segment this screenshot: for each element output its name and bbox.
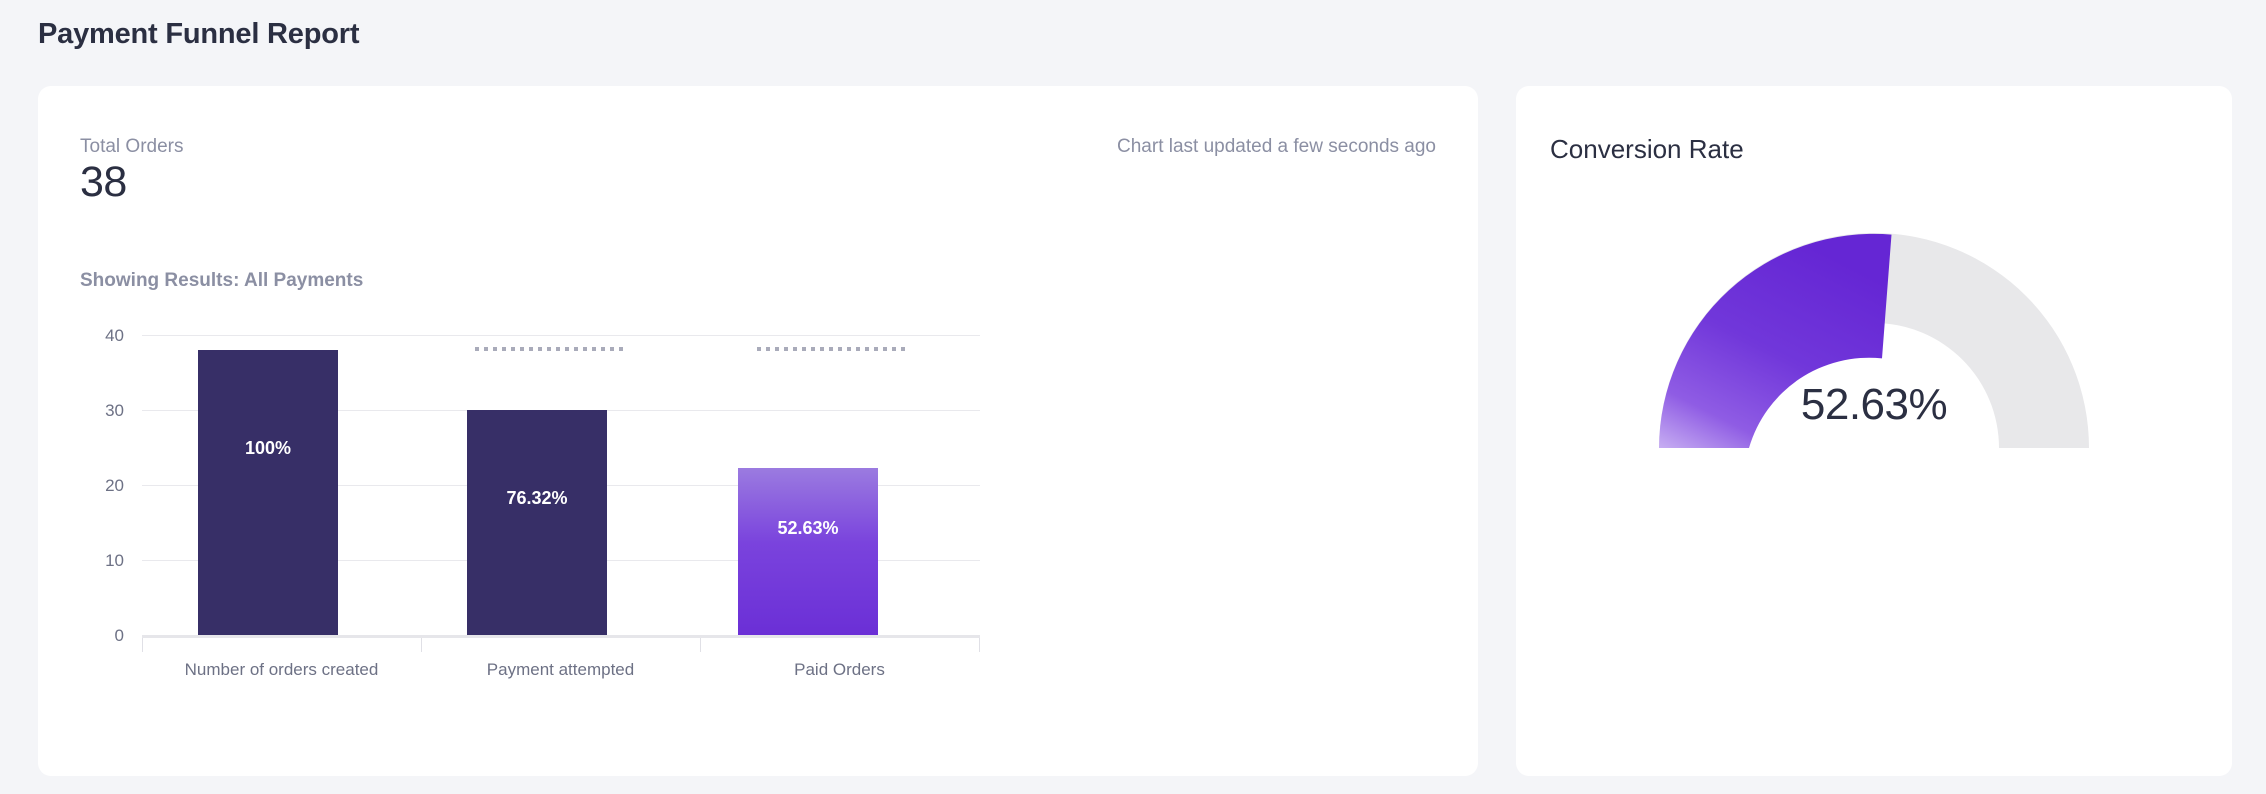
bar-value-label: 100% [198, 438, 338, 459]
chart-updated-text: Chart last updated a few seconds ago [1117, 136, 1436, 158]
gauge-svg [1639, 220, 2109, 470]
bar-value-label: 52.63% [738, 518, 878, 539]
total-orders-label: Total Orders [80, 136, 183, 158]
total-orders-value: 38 [80, 158, 127, 207]
x-axis-tick-2 [700, 638, 701, 652]
x-axis-baseline [142, 635, 980, 638]
x-axis-label-1: Payment attempted [421, 660, 700, 680]
page-title: Payment Funnel Report [38, 18, 359, 51]
y-axis-tick-20: 20 [64, 476, 124, 496]
showing-results-text: Showing Results: All Payments [80, 270, 363, 292]
bar-number-of-orders-created[interactable]: 100% [198, 350, 338, 635]
bar-payment-attempted[interactable]: 76.32% [467, 410, 607, 635]
y-axis-tick-10: 10 [64, 551, 124, 571]
x-axis-tick-0 [142, 638, 143, 652]
x-axis-tick-1 [421, 638, 422, 652]
funnel-bar-chart: 40 30 20 10 0 100% 76.32% 52.63% [38, 312, 1478, 752]
x-axis-label-2: Paid Orders [700, 660, 979, 680]
y-axis-tick-30: 30 [64, 401, 124, 421]
conversion-rate-title: Conversion Rate [1550, 134, 1744, 165]
gridline-40 [142, 335, 980, 336]
conversion-rate-gauge: 52.63% [1639, 220, 2109, 470]
report-page: Payment Funnel Report Total Orders 38 Ch… [0, 0, 2266, 794]
conversion-rate-card: Conversion Rate 52.63% [1516, 86, 2232, 776]
bar-value-label: 76.32% [467, 488, 607, 509]
bar-paid-orders[interactable]: 52.63% [738, 468, 878, 635]
x-axis-tick-3 [979, 638, 980, 652]
funnel-connector-2 [757, 347, 905, 351]
payment-funnel-card: Total Orders 38 Chart last updated a few… [38, 86, 1478, 776]
y-axis-tick-0: 0 [64, 626, 124, 646]
gauge-value-label: 52.63% [1639, 380, 2109, 430]
funnel-connector-1 [475, 347, 623, 351]
x-axis-label-0: Number of orders created [142, 660, 421, 680]
y-axis-tick-40: 40 [64, 326, 124, 346]
